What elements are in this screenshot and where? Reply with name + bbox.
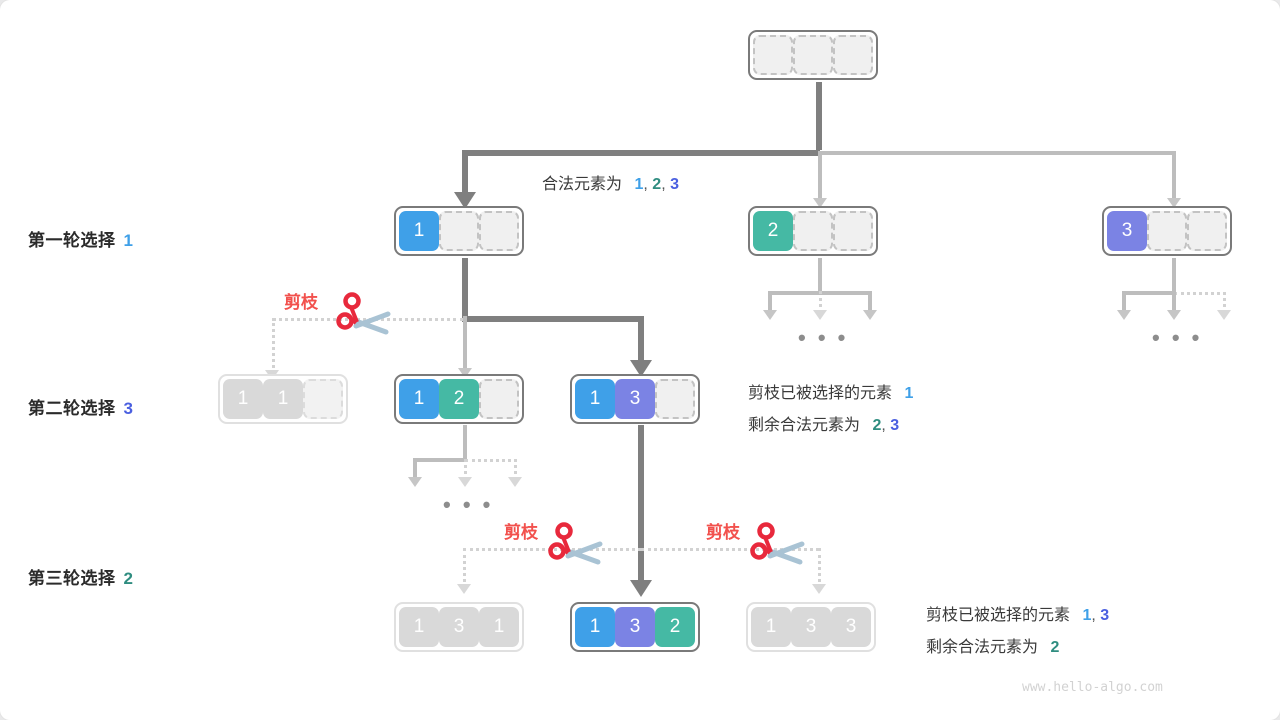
edge-13-drop-right-pruned <box>818 548 821 588</box>
array-cell-1: 1 <box>223 379 263 419</box>
note-row3-line2: 剩余合法元素为 2 <box>926 633 1059 657</box>
note-row2-line2: 剩余合法元素为 2, 3 <box>748 411 899 435</box>
scissors-icon-2 <box>548 522 604 568</box>
row-label-2-text: 第二轮选择 <box>28 399 116 418</box>
array-cell-1 <box>753 35 793 75</box>
array-cell-3 <box>303 379 343 419</box>
arrowhead-n2-left <box>763 310 777 320</box>
node-row3-pruned-133: 133 <box>746 602 876 652</box>
ellipsis-under-n2: • • • <box>798 325 848 351</box>
array-cell-1: 1 <box>575 379 615 419</box>
node-row2-12: 12 <box>394 374 524 424</box>
array-cell-1: 1 <box>751 607 791 647</box>
edge-n3-bus <box>1122 291 1176 295</box>
node-root <box>748 30 878 80</box>
edge-n1-bus <box>462 316 644 322</box>
node-row2-13: 13 <box>570 374 700 424</box>
row-label-1: 第一轮选择1 <box>28 226 133 251</box>
node-row1-1: 1 <box>394 206 524 256</box>
edge-n3-stem <box>1172 258 1176 294</box>
note-row3-line1: 剪枝已被选择的元素 1, 3 <box>926 601 1109 625</box>
edge-n1-stem <box>462 258 468 318</box>
note-row2-line2-v2: 3 <box>890 417 899 434</box>
node-row3-pruned-131: 131 <box>394 602 524 652</box>
edge-n3-bus-pruned <box>1174 292 1226 295</box>
edge-12-stem <box>463 425 467 461</box>
edge-12-bus <box>413 458 467 462</box>
node-row2-pruned-11: 11 <box>218 374 348 424</box>
array-cell-2: 3 <box>615 379 655 419</box>
array-cell-2: 3 <box>615 607 655 647</box>
ellipsis-under-n3: • • • <box>1152 325 1202 351</box>
edge-root-to-n2 <box>818 151 822 201</box>
note-row3-line2-v1: 2 <box>1050 639 1059 656</box>
prune-label-3: 剪枝 <box>706 518 740 543</box>
row-label-1-text: 第一轮选择 <box>28 231 116 250</box>
edge-12-bus-pruned <box>465 459 517 462</box>
note-row2-line1-prefix: 剪枝已被选择的元素 <box>748 385 892 402</box>
edge-13-stem <box>638 425 644 587</box>
arrowhead-n2-mid <box>813 310 827 320</box>
row-label-2-value: 3 <box>124 399 134 418</box>
arrowhead-12-left <box>408 477 422 487</box>
note-legal-elements: 合法元素为 1, 2, 3 <box>542 170 679 194</box>
edge-n1-drop-pruned <box>272 318 275 374</box>
arrowhead-13-to-133 <box>812 584 826 594</box>
prune-label-1: 剪枝 <box>284 288 318 313</box>
note-row2-line2-prefix: 剩余合法元素为 <box>748 417 860 434</box>
array-cell-1: 1 <box>399 379 439 419</box>
node-row1-2: 2 <box>748 206 878 256</box>
edge-root-stem <box>816 82 822 150</box>
array-cell-3 <box>833 35 873 75</box>
scissors-icon-3 <box>750 522 806 568</box>
array-cell-3: 2 <box>655 607 695 647</box>
arrowhead-n3-right <box>1217 310 1231 320</box>
note-row3-line2-prefix: 剩余合法元素为 <box>926 639 1038 656</box>
row-label-3: 第三轮选择2 <box>28 564 133 589</box>
arrowhead-12-right <box>508 477 522 487</box>
array-cell-3: 1 <box>479 607 519 647</box>
node-row1-3: 3 <box>1102 206 1232 256</box>
arrowhead-13-to-132 <box>630 580 652 597</box>
array-cell-2 <box>1147 211 1187 251</box>
array-cell-2: 2 <box>439 379 479 419</box>
note-row2-line1-v1: 1 <box>904 385 913 402</box>
edge-root-bus-right <box>818 151 1174 155</box>
array-cell-3 <box>655 379 695 419</box>
edge-root-to-n1 <box>462 150 468 196</box>
arrowhead-n3-left <box>1117 310 1131 320</box>
node-row3-132: 132 <box>570 602 700 652</box>
array-cell-1: 3 <box>1107 211 1147 251</box>
edge-n1-to-13 <box>638 316 644 364</box>
array-cell-1: 1 <box>399 211 439 251</box>
array-cell-3 <box>833 211 873 251</box>
array-cell-3 <box>479 379 519 419</box>
array-cell-2 <box>793 211 833 251</box>
array-cell-1: 2 <box>753 211 793 251</box>
array-cell-1: 1 <box>399 607 439 647</box>
diagram-canvas: • • • • • • • • • 第一轮选择1 第二轮选择3 第三轮选择2 1… <box>0 0 1280 720</box>
array-cell-1: 1 <box>575 607 615 647</box>
array-cell-3 <box>1187 211 1227 251</box>
note-row3-line1-prefix: 剪枝已被选择的元素 <box>926 607 1070 624</box>
note-legal-v3: 3 <box>670 176 679 193</box>
edge-13-drop-left-pruned <box>463 548 466 588</box>
prune-label-2: 剪枝 <box>504 518 538 543</box>
array-cell-2: 3 <box>439 607 479 647</box>
arrowhead-n2-right <box>863 310 877 320</box>
edge-n1-to-12 <box>463 316 467 372</box>
edge-root-to-n3 <box>1172 151 1176 201</box>
edge-root-bus-left <box>462 150 820 156</box>
row-label-3-text: 第三轮选择 <box>28 569 116 588</box>
row-label-3-value: 2 <box>124 569 134 588</box>
note-legal-v2: 2 <box>652 176 661 193</box>
ellipsis-under-12: • • • <box>443 492 493 518</box>
arrowhead-12-mid <box>458 477 472 487</box>
array-cell-3: 3 <box>831 607 871 647</box>
edge-n2-stem <box>818 258 822 294</box>
row-label-1-value: 1 <box>124 231 134 250</box>
arrowhead-13-to-131 <box>457 584 471 594</box>
row-label-2: 第二轮选择3 <box>28 394 133 419</box>
scissors-icon-1 <box>336 292 392 338</box>
array-cell-3 <box>479 211 519 251</box>
note-legal-prefix: 合法元素为 <box>542 176 622 193</box>
array-cell-2: 3 <box>791 607 831 647</box>
watermark: www.hello-algo.com <box>1022 680 1163 695</box>
array-cell-2 <box>793 35 833 75</box>
note-row2-line1: 剪枝已被选择的元素 1 <box>748 379 913 403</box>
array-cell-2 <box>439 211 479 251</box>
array-cell-2: 1 <box>263 379 303 419</box>
note-row3-line1-v2: 3 <box>1100 607 1109 624</box>
arrowhead-n3-mid <box>1167 310 1181 320</box>
